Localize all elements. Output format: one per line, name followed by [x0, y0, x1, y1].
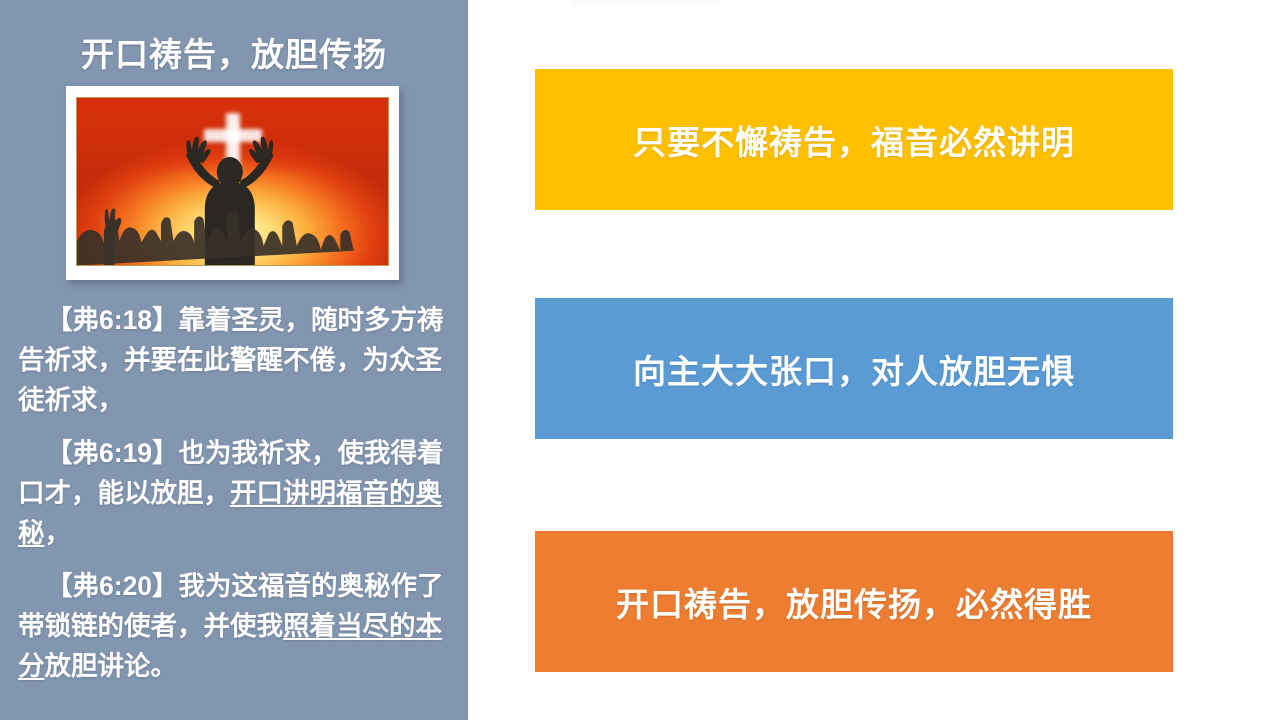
banner-bar-label: 只要不懈祷告，福音必然讲明	[633, 116, 1075, 164]
presentation-slide: 开口祷告，放胆传扬	[0, 0, 1280, 720]
banner-bar-orange: 开口祷告，放胆传扬，必然得胜	[535, 531, 1173, 672]
scripture-verse-620: 【弗6:20】我为这福音的奥秘作了带锁链的使者，并使我照着当尽的本分放胆讲论。	[18, 566, 456, 686]
scripture-verse-618: 【弗6:18】靠着圣灵，随时多方祷告祈求，并要在此警醒不倦，为众圣徒祈求，	[18, 300, 456, 420]
sidebar-panel: 开口祷告，放胆传扬	[0, 0, 468, 720]
verse-text-tail: ，	[45, 518, 72, 548]
verse-text-tail: 放胆讲论。	[45, 651, 178, 681]
worship-silhouette-photo	[76, 97, 389, 266]
banner-bar-label: 开口祷告，放胆传扬，必然得胜	[616, 578, 1092, 626]
verse-text-plain: 【弗6:18】靠着圣灵，随时多方祷告祈求，并要在此警醒不倦，为众圣徒祈求，	[18, 305, 444, 415]
scripture-block: 【弗6:18】靠着圣灵，随时多方祷告祈求，并要在此警醒不倦，为众圣徒祈求， 【弗…	[18, 300, 456, 699]
crowd-silhouette	[77, 192, 388, 265]
slide-title: 开口祷告，放胆传扬	[0, 28, 468, 76]
scripture-verse-619: 【弗6:19】也为我祈求，使我得着口才，能以放胆，开口讲明福音的奥秘，	[18, 433, 456, 553]
banner-bar-group: 只要不懈祷告，福音必然讲明 向主大大张口，对人放胆无惧 开口祷告，放胆传扬，必然…	[535, 0, 1173, 720]
worship-photo-frame	[66, 86, 399, 280]
banner-bar-amber: 只要不懈祷告，福音必然讲明	[535, 69, 1173, 210]
banner-bar-blue: 向主大大张口，对人放胆无惧	[535, 298, 1173, 439]
banner-bar-label: 向主大大张口，对人放胆无惧	[633, 345, 1075, 393]
